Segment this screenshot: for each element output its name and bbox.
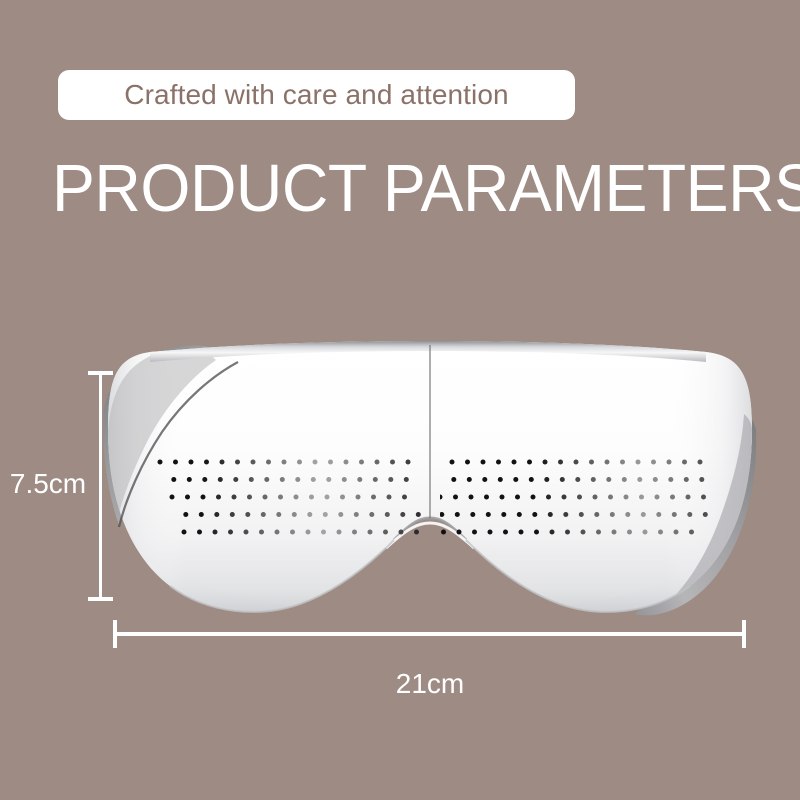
dimension-height-label: 7.5cm <box>5 467 91 501</box>
product-parameters-poster: Crafted with care and attention PRODUCT … <box>0 0 800 800</box>
dimension-height-cap-bottom <box>88 597 113 601</box>
dimension-height-cap-top <box>88 371 113 375</box>
dimension-width-cap-left <box>113 620 117 648</box>
dimension-width-line <box>114 632 745 636</box>
dimension-width-label: 21cm <box>330 667 530 701</box>
dimension-width-cap-right <box>742 620 746 648</box>
dimension-height: 7.5cm 21cm <box>0 0 800 800</box>
dimension-height-line <box>99 372 102 600</box>
